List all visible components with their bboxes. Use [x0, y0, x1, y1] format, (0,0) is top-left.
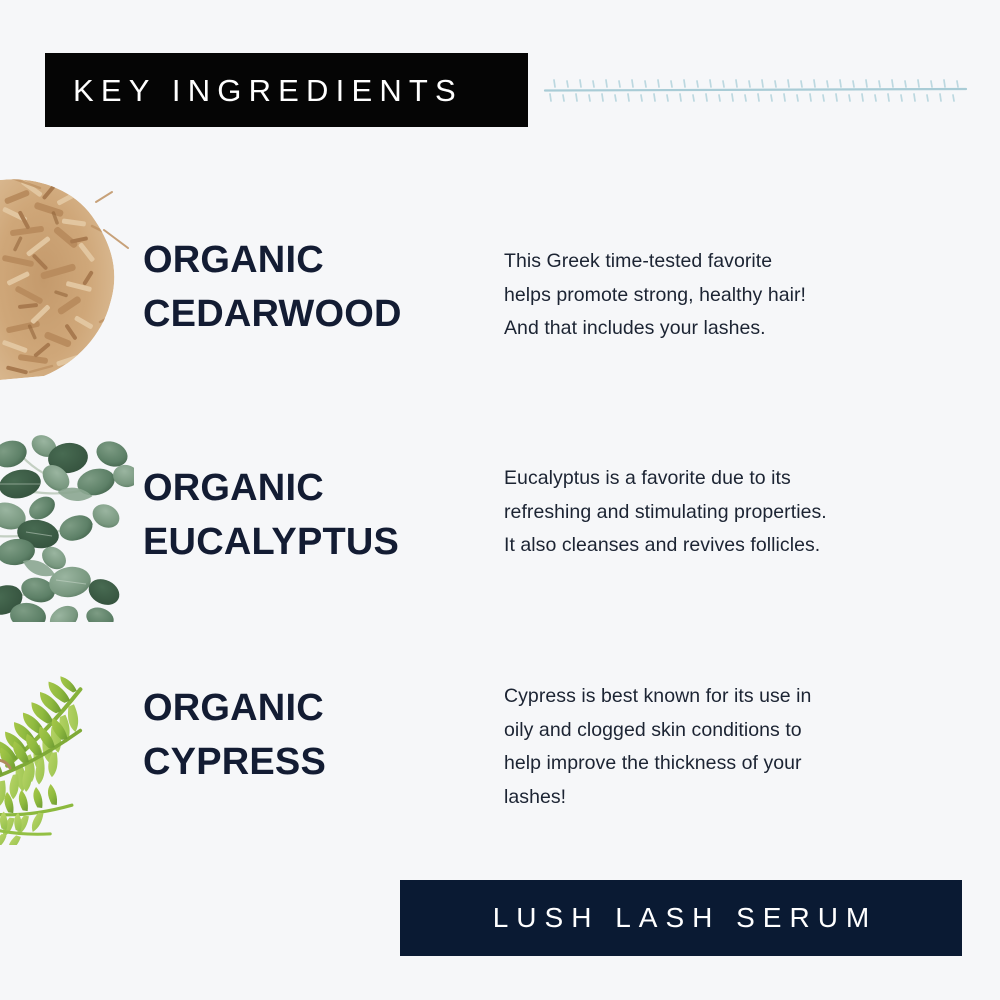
- key-ingredients-header-bar: KEY INGREDIENTS: [45, 53, 528, 127]
- ingredient-description-cypress: Cypress is best known for its use in oil…: [504, 680, 914, 814]
- tick-rule-icon: [543, 74, 968, 106]
- ingredient-name-eucalyptus: ORGANIC EUCALYPTUS: [143, 462, 399, 570]
- cedarwood-chips-photo: [0, 172, 134, 382]
- cypress-frond-photo: [0, 660, 134, 845]
- ingredient-description-cedarwood: This Greek time-tested favorite helps pr…: [504, 245, 914, 346]
- ingredient-name-cedarwood: ORGANIC CEDARWOOD: [143, 234, 402, 342]
- ingredient-name-cypress: ORGANIC CYPRESS: [143, 682, 326, 790]
- infographic-page: KEY INGREDIENTS: [0, 0, 1000, 1000]
- cypress-frond-image: [0, 660, 134, 845]
- eucalyptus-leaves-image: [0, 432, 134, 622]
- cedarwood-chips-image: [0, 172, 134, 382]
- product-name: LUSH LASH SERUM: [485, 904, 878, 932]
- ingredient-row-cedarwood: ORGANIC CEDARWOOD This Greek time-tested…: [0, 172, 1000, 382]
- ingredient-row-eucalyptus: ORGANIC EUCALYPTUS Eucalyptus is a favor…: [0, 432, 1000, 622]
- dashed-tick-rule-decoration: [543, 74, 968, 106]
- eucalyptus-leaves-photo: [0, 432, 134, 622]
- ingredient-row-cypress: ORGANIC CYPRESS Cypress is best known fo…: [0, 660, 1000, 845]
- product-name-footer-bar: LUSH LASH SERUM: [400, 880, 962, 956]
- page-title: KEY INGREDIENTS: [73, 75, 463, 106]
- ingredient-description-eucalyptus: Eucalyptus is a favorite due to its refr…: [504, 462, 914, 563]
